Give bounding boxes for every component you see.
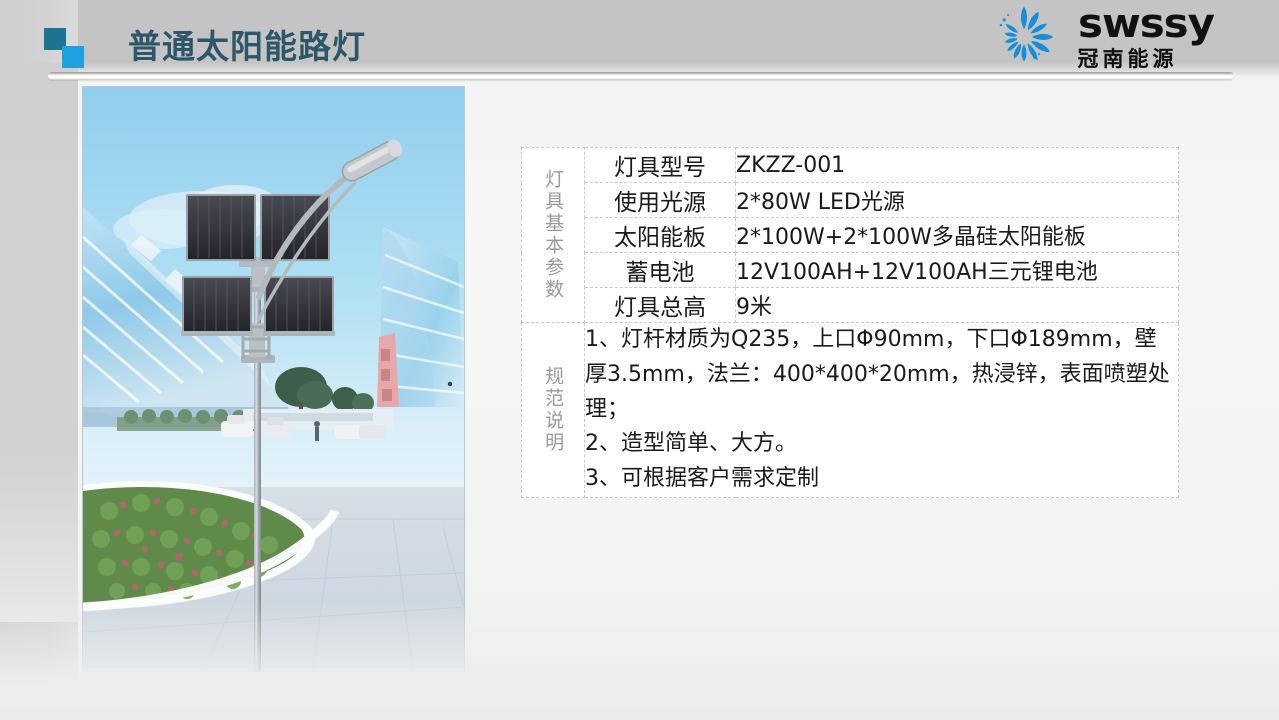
decorative-squares — [44, 28, 96, 70]
table-row: 使用光源 2*80W LED光源 — [522, 183, 1179, 218]
table-cell-key: 灯具总高 — [585, 288, 736, 323]
table-cell-value: 12V100AH+12V100AH三元锂电池 — [736, 253, 1179, 288]
table-cell-key: 蓄电池 — [585, 253, 736, 288]
table-cell-key: 太阳能板 — [585, 218, 736, 253]
spec-note-line: 2、造型简单、大方。 — [585, 427, 1178, 462]
water-droplet-flower-logo-icon — [978, 4, 1070, 70]
table-row: 灯具基本参数 灯具型号 ZKZZ-001 — [522, 148, 1179, 183]
table-row-notes: 规范说明 1、灯杆材质为Q235，上口Φ90mm，下口Φ189mm，壁厚3.5m… — [522, 323, 1179, 498]
table-row: 太阳能板 2*100W+2*100W多晶硅太阳能板 — [522, 218, 1179, 253]
spec-note-line: 1、灯杆材质为Q235，上口Φ90mm，下口Φ189mm，壁厚3.5mm，法兰：… — [585, 323, 1178, 427]
solar-street-lamp-photo — [82, 86, 465, 672]
table-cell-key: 使用光源 — [585, 183, 736, 218]
logo-wordmark: swssy — [1078, 4, 1214, 44]
table-cell-key: 灯具型号 — [585, 148, 736, 183]
group-label-spec: 规范说明 — [522, 323, 585, 498]
page-title: 普通太阳能路灯 — [128, 20, 366, 68]
square-light-icon — [62, 46, 84, 68]
spec-note-line: 3、可根据客户需求定制 — [585, 462, 1178, 497]
group-label-basic: 灯具基本参数 — [522, 148, 585, 323]
table-row: 蓄电池 12V100AH+12V100AH三元锂电池 — [522, 253, 1179, 288]
table-cell-value: 2*80W LED光源 — [736, 183, 1179, 218]
table-cell-value: ZKZZ-001 — [736, 148, 1179, 183]
bottom-gradient — [0, 600, 1279, 720]
spec-notes-cell: 1、灯杆材质为Q235，上口Φ90mm，下口Φ189mm，壁厚3.5mm，法兰：… — [585, 323, 1179, 498]
table-cell-value: 2*100W+2*100W多晶硅太阳能板 — [736, 218, 1179, 253]
left-gray-band-lower — [0, 62, 78, 622]
logo-text-block: swssy 冠南能源 — [1078, 4, 1207, 70]
company-logo: swssy 冠南能源 — [978, 4, 1207, 70]
specification-table: 灯具基本参数 灯具型号 ZKZZ-001 使用光源 2*80W LED光源 太阳… — [521, 147, 1179, 498]
title-divider-bar — [48, 72, 1234, 80]
slide-header: 普通太阳能路灯 — [0, 0, 1279, 80]
table-cell-value: 9米 — [736, 288, 1179, 323]
slide-canvas: 普通太阳能路灯 — [0, 0, 1279, 720]
table-row: 灯具总高 9米 — [522, 288, 1179, 323]
logo-chinese-name: 冠南能源 — [1078, 49, 1178, 70]
